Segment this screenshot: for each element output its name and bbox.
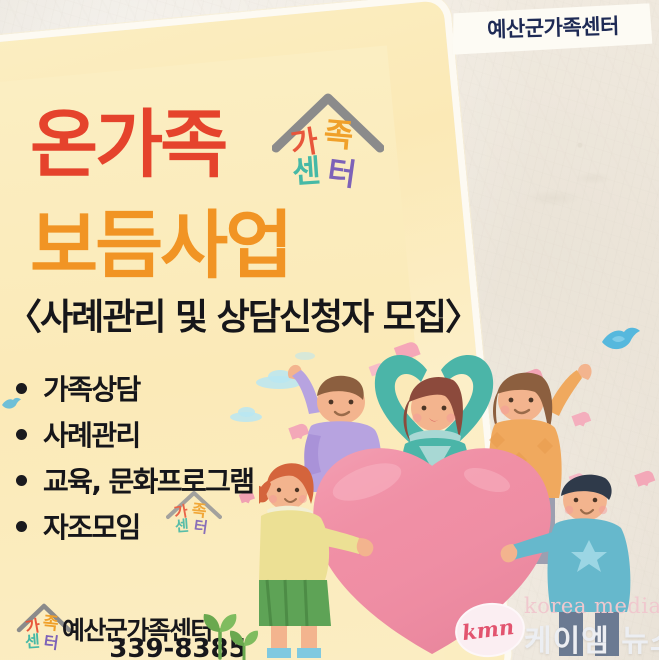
logo-syllable-sen: 센 [24, 628, 40, 653]
family-center-logo: 가 족 센 터 [272, 88, 384, 186]
logo-syllable-teo: 터 [193, 515, 210, 538]
list-item-label: 자조모임 [43, 506, 140, 546]
title-line-one: 온가족 [30, 85, 225, 192]
logo-syllable-sen: 센 [174, 515, 189, 537]
list-item-label: 가족상담 [43, 368, 140, 408]
kmn-korean-name: 케이엠 뉴스 [524, 616, 659, 660]
title-line-two: 보듬사업 [30, 186, 290, 293]
bullet-dot-icon [16, 383, 27, 394]
poster-subtitle: 〈사례관리 및 상담신청자 모집〉 [6, 288, 479, 340]
family-center-logo-watermark: 가 족 센 터 [165, 487, 223, 535]
bullet-dot-icon [16, 475, 27, 486]
kmn-english-name: korea media news [524, 594, 659, 618]
list-item: 가족상담 [16, 365, 336, 411]
poster-canvas: 예산군가족센터 온가족 보듬사업 가 족 센 터 〈사례관리 및 상담신청자 모… [0, 0, 659, 660]
sprout-icon [226, 622, 262, 660]
bullet-dot-icon [16, 521, 27, 532]
list-item-label: 사례관리 [43, 414, 140, 454]
badge-label: 예산군가족센터 [455, 9, 652, 44]
list-item: 사례관리 [16, 411, 336, 457]
bullet-dot-icon [16, 429, 27, 440]
logo-syllable-sen: 센 [290, 145, 322, 192]
